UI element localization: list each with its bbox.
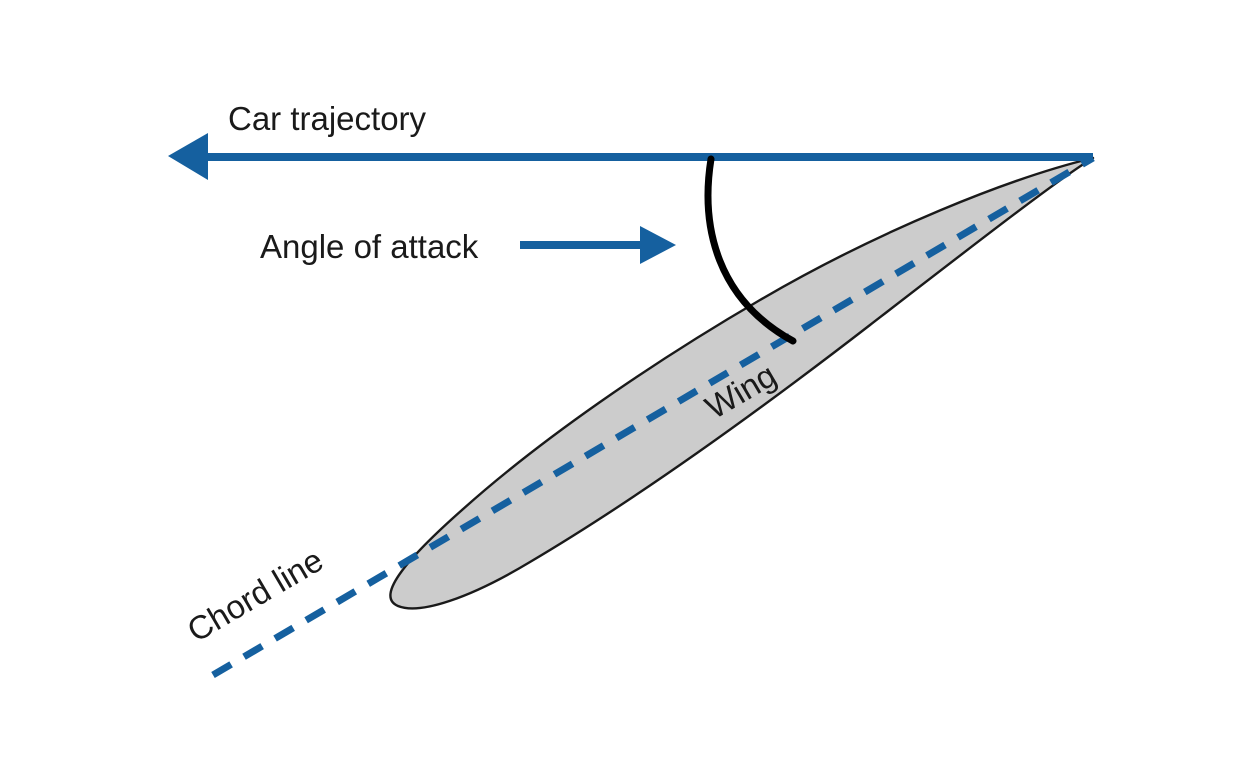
label-chord-line: Chord line [181,541,329,649]
label-angle-of-attack: Angle of attack [260,228,479,265]
diagram-canvas: Car trajectory Angle of attack Wing Chor… [0,0,1248,768]
angle-of-attack-arrowhead-icon [640,226,676,264]
aerodynamics-diagram: Car trajectory Angle of attack Wing Chor… [0,0,1248,768]
angle-of-attack-arrow-group [520,226,676,264]
car-trajectory-arrow-group [168,133,1093,180]
label-car-trajectory: Car trajectory [228,100,427,137]
car-trajectory-arrowhead-icon [168,133,208,180]
